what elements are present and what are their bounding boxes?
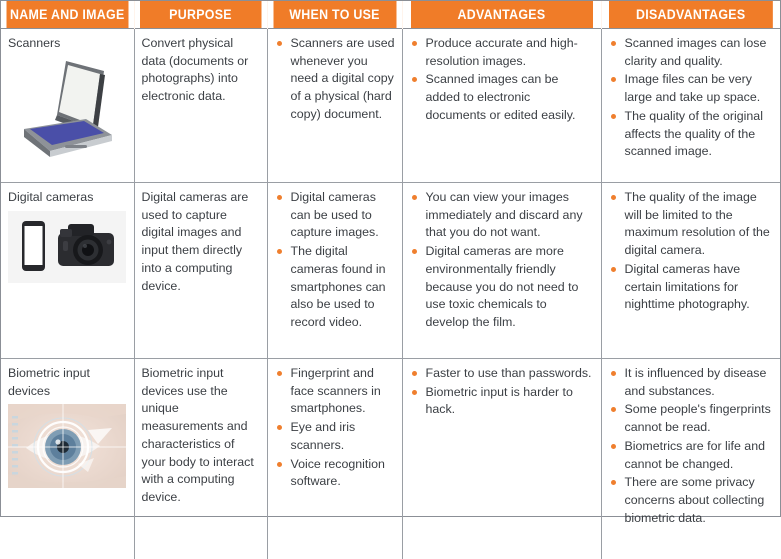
- cell-name-and-image: Scanners: [1, 29, 134, 183]
- cell-name-and-image: Digital cameras: [1, 183, 134, 359]
- flatbed-scanner-icon: [8, 57, 120, 161]
- list-item: Faster to use than passwords.: [410, 365, 594, 383]
- cell-advantages: Produce accurate and high-resolution ima…: [402, 29, 601, 183]
- advantages-list: Produce accurate and high-resolution ima…: [410, 35, 594, 125]
- cell-purpose: Biometric input devices use the unique m…: [134, 359, 267, 559]
- list-item: Produce accurate and high-resolution ima…: [410, 35, 594, 70]
- table-row: Scanners: [1, 29, 780, 183]
- cell-disadvantages: The quality of the image will be limited…: [601, 183, 780, 359]
- cell-purpose: Digital cameras are used to capture digi…: [134, 183, 267, 359]
- purpose-text: Biometric input devices use the unique m…: [142, 365, 260, 507]
- cell-when-to-use: Fingerprint and face scanners in smartph…: [267, 359, 402, 559]
- list-item: Biometrics are for life and cannot be ch…: [609, 438, 774, 473]
- disadvantages-list: Scanned images can lose clarity and qual…: [609, 35, 774, 161]
- purpose-text: Convert physical data (documents or phot…: [142, 35, 260, 106]
- iris-scan-icon: [8, 404, 126, 488]
- device-name: Digital cameras: [8, 189, 127, 207]
- list-item: It is influenced by disease and substanc…: [609, 365, 774, 400]
- list-item: Biometric input is harder to hack.: [410, 384, 594, 419]
- purpose-text: Digital cameras are used to capture digi…: [142, 189, 260, 295]
- table-body: Scanners: [1, 29, 780, 559]
- cell-advantages: Faster to use than passwords. Biometric …: [402, 359, 601, 559]
- advantages-list: Faster to use than passwords. Biometric …: [410, 365, 594, 419]
- list-item: Scanned images can lose clarity and qual…: [609, 35, 774, 70]
- column-header-name-and-image: NAME AND IMAGE: [6, 1, 128, 29]
- table-row: Biometric input devices: [1, 359, 780, 559]
- list-item: Eye and iris scanners.: [275, 419, 395, 454]
- list-item: Scanned images can be added to electroni…: [410, 71, 594, 124]
- device-comparison-table-container: NAME AND IMAGE PURPOSE WHEN TO USE ADVAN…: [0, 0, 781, 517]
- list-item: Digital cameras can be used to capture i…: [275, 189, 395, 242]
- list-item: Voice recognition software.: [275, 456, 395, 491]
- biometric-image: [8, 404, 127, 488]
- list-item: Image files can be very large and take u…: [609, 71, 774, 106]
- list-item: The quality of the image will be limited…: [609, 189, 774, 260]
- digital-camera-image: [8, 211, 127, 283]
- table-row: Digital cameras: [1, 183, 780, 359]
- device-name: Biometric input devices: [8, 365, 127, 400]
- disadvantages-list: The quality of the image will be limited…: [609, 189, 774, 314]
- column-header-disadvantages: DISADVANTAGES: [608, 1, 773, 29]
- when-to-use-list: Scanners are used whenever you need a di…: [275, 35, 395, 124]
- when-to-use-list: Fingerprint and face scanners in smartph…: [275, 365, 395, 491]
- list-item: You can view your images immediately and…: [410, 189, 594, 242]
- cell-disadvantages: Scanned images can lose clarity and qual…: [601, 29, 780, 183]
- cell-advantages: You can view your images immediately and…: [402, 183, 601, 359]
- list-item: Digital cameras have certain limitations…: [609, 261, 774, 314]
- cell-purpose: Convert physical data (documents or phot…: [134, 29, 267, 183]
- list-item: Fingerprint and face scanners in smartph…: [275, 365, 395, 418]
- scanner-image: [8, 57, 127, 161]
- advantages-list: You can view your images immediately and…: [410, 189, 594, 332]
- column-header-when-to-use: WHEN TO USE: [272, 1, 396, 29]
- cell-name-and-image: Biometric input devices: [1, 359, 134, 559]
- list-item: Digital cameras are more environmentally…: [410, 243, 594, 332]
- table-header: NAME AND IMAGE PURPOSE WHEN TO USE ADVAN…: [1, 1, 780, 29]
- table-header-row: NAME AND IMAGE PURPOSE WHEN TO USE ADVAN…: [1, 1, 780, 29]
- cell-when-to-use: Scanners are used whenever you need a di…: [267, 29, 402, 183]
- column-header-purpose: PURPOSE: [139, 1, 261, 29]
- cell-disadvantages: It is influenced by disease and substanc…: [601, 359, 780, 559]
- list-item: The digital cameras found in smartphones…: [275, 243, 395, 332]
- device-comparison-table: NAME AND IMAGE PURPOSE WHEN TO USE ADVAN…: [1, 1, 780, 559]
- list-item: Some people's fingerprints cannot be rea…: [609, 401, 774, 436]
- smartphone-and-camera-icon: [8, 211, 126, 283]
- list-item: There are some privacy concerns about co…: [609, 474, 774, 527]
- list-item: The quality of the original affects the …: [609, 108, 774, 161]
- column-header-advantages: ADVANTAGES: [410, 1, 593, 29]
- list-item: Scanners are used whenever you need a di…: [275, 35, 395, 124]
- when-to-use-list: Digital cameras can be used to capture i…: [275, 189, 395, 332]
- disadvantages-list: It is influenced by disease and substanc…: [609, 365, 774, 528]
- cell-when-to-use: Digital cameras can be used to capture i…: [267, 183, 402, 359]
- device-name: Scanners: [8, 35, 127, 53]
